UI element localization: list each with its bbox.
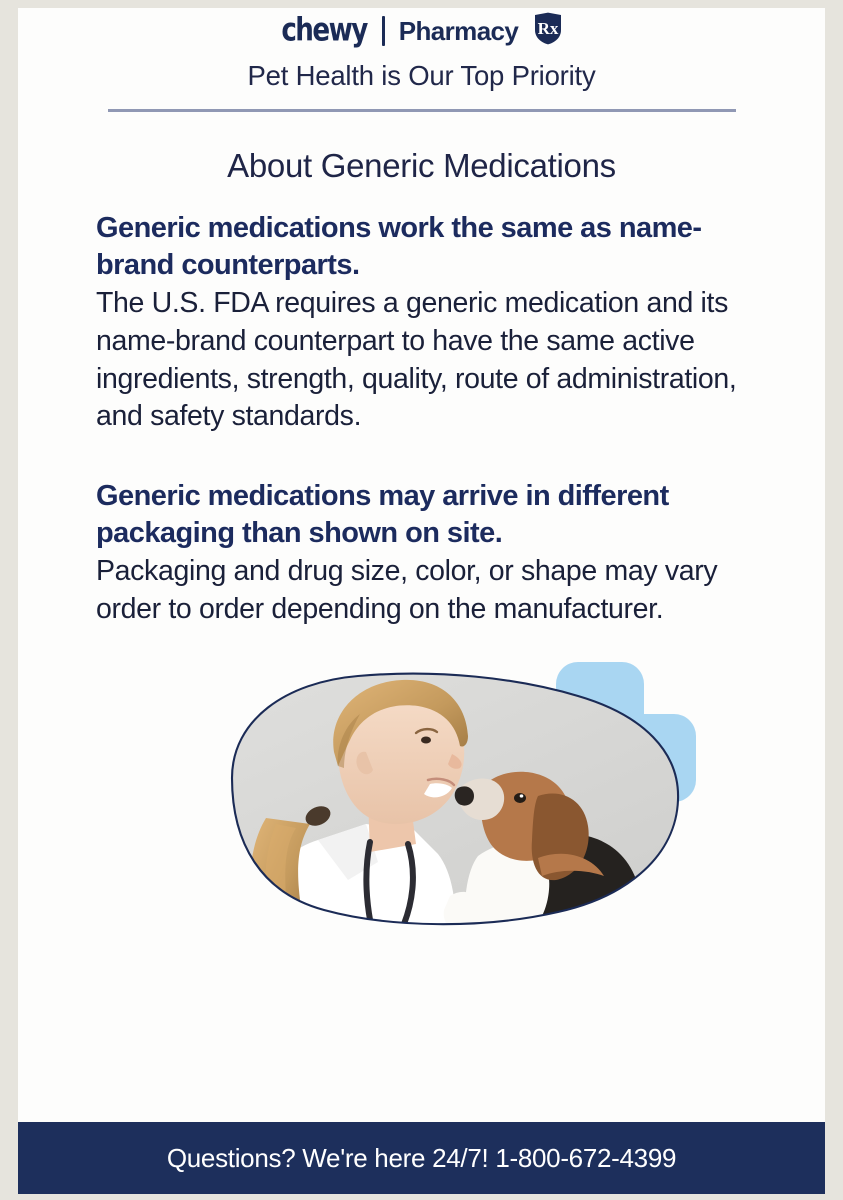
header: chewy Pharmacy Rx Pet Health is Our Top … <box>18 8 825 112</box>
chewy-wordmark: chewy <box>281 15 366 47</box>
content-area: Generic medications work the same as nam… <box>18 210 825 628</box>
brand-logo[interactable]: chewy Pharmacy Rx <box>18 10 825 52</box>
hero-image <box>18 648 825 933</box>
logo-divider <box>382 16 385 46</box>
info-block-2: Generic medications may arrive in differ… <box>96 478 747 628</box>
footer-contact-bar[interactable]: Questions? We're here 24/7! 1-800-672-43… <box>18 1122 825 1194</box>
footer-contact-text: Questions? We're here 24/7! 1-800-672-43… <box>167 1143 676 1174</box>
page-root: chewy Pharmacy Rx Pet Health is Our Top … <box>0 0 843 1200</box>
tagline: Pet Health is Our Top Priority <box>18 60 825 92</box>
info-block-2-heading: Generic medications may arrive in differ… <box>96 478 747 552</box>
info-block-1-heading: Generic medications work the same as nam… <box>96 210 747 284</box>
info-block-1: Generic medications work the same as nam… <box>96 210 747 436</box>
info-block-2-body: Packaging and drug size, color, or shape… <box>96 553 747 628</box>
svg-text:Rx: Rx <box>538 19 559 38</box>
vet-and-puppy-illustration <box>18 648 825 933</box>
header-divider-rule <box>108 109 736 112</box>
info-block-1-body: The U.S. FDA requires a generic medicati… <box>96 285 747 435</box>
rx-shield-icon: Rx <box>533 12 563 50</box>
pharmacy-wordmark: Pharmacy <box>399 18 519 44</box>
email-card: chewy Pharmacy Rx Pet Health is Our Top … <box>18 8 825 1194</box>
page-title: About Generic Medications <box>18 146 825 186</box>
